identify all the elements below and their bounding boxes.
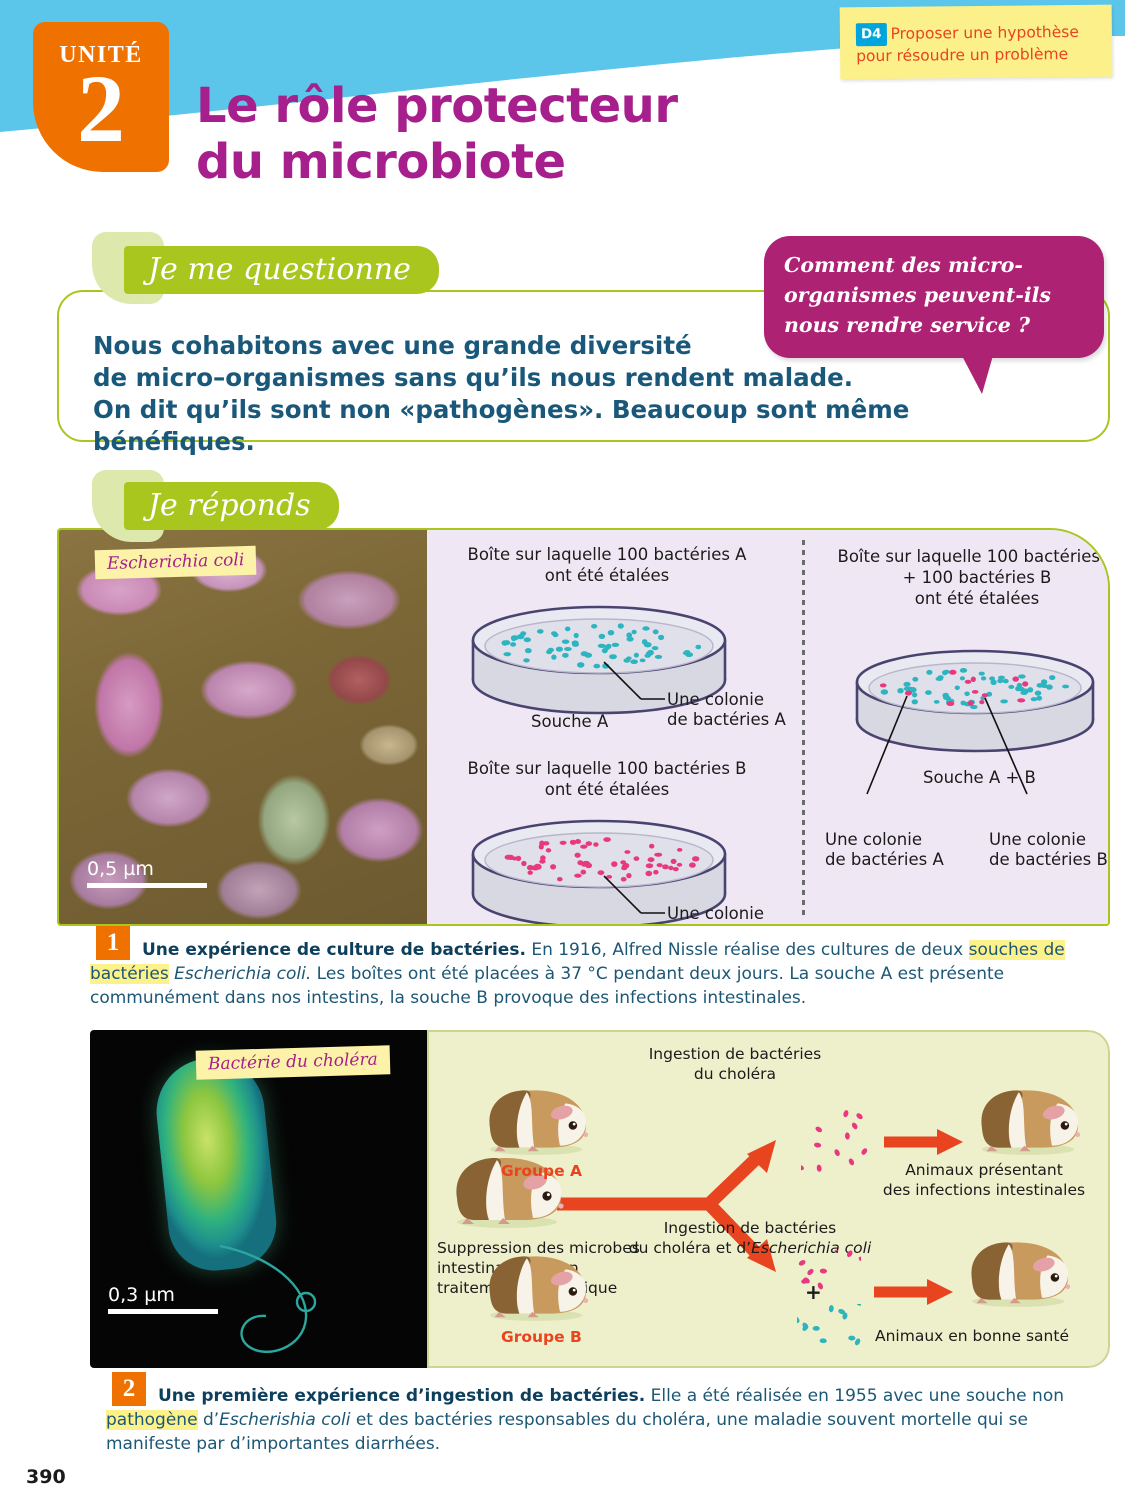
group-b-result-text: Animaux en bonne santé bbox=[875, 1326, 1105, 1346]
page-number: 390 bbox=[26, 1466, 66, 1488]
caption-1: Une expérience de culture de bactéries. … bbox=[90, 938, 1090, 1010]
panel-ab-colony-a-line1: Une colonie bbox=[825, 830, 944, 850]
scale-bar-ecoli: 0,5 µm bbox=[87, 858, 207, 888]
panel-b-colony-line1: Une colonie bbox=[667, 904, 786, 924]
unit-badge: UNITÉ 2 bbox=[33, 22, 169, 172]
plus-sign: + bbox=[805, 1282, 822, 1302]
caption-1-bold: Une expérience de culture de bactéries. bbox=[142, 940, 526, 960]
scale-bar-cholera-text: 0,3 µm bbox=[108, 1284, 218, 1306]
caption-2-highlight: pathogène bbox=[106, 1410, 198, 1430]
scale-bar-cholera: 0,3 µm bbox=[108, 1284, 218, 1314]
bubble-line1: Comment des micro- bbox=[784, 250, 1092, 280]
tab-je-reponds[interactable]: Je réponds bbox=[124, 482, 339, 530]
panel-a-colony-line2: de bactéries A bbox=[667, 710, 786, 730]
panel-ab-caption-line1: Boîte sur laquelle 100 bactéries A bbox=[827, 546, 1110, 567]
bubble-line3: nous rendre service ? bbox=[784, 310, 1092, 340]
figure-1: Escherichia coli 0,5 µm Boîte sur laquel… bbox=[57, 528, 1110, 926]
tab-je-me-questionne[interactable]: Je me questionne bbox=[124, 246, 439, 294]
diagram-divider bbox=[802, 540, 805, 918]
scale-bar-cholera-line bbox=[108, 1309, 218, 1314]
panel-b-caption-line1: Boîte sur laquelle 100 bactéries B bbox=[447, 758, 767, 779]
ecoli-micrograph: Escherichia coli 0,5 µm bbox=[59, 530, 427, 924]
group-b-label: Groupe B bbox=[501, 1328, 582, 1346]
caption-1-t1: En 1916, Alfred Nissle réalise des cultu… bbox=[526, 940, 969, 960]
ecoli-photo-label: Escherichia coli bbox=[95, 546, 257, 579]
ingestion-experiment-diagram: Suppression des microbes intestinaux par… bbox=[427, 1030, 1110, 1368]
page-title: Le rôle protecteur du microbiote bbox=[196, 78, 678, 190]
cholera-photo-label: Bactérie du choléra bbox=[196, 1045, 391, 1079]
panel-a-dish-label: Souche A bbox=[531, 712, 608, 732]
group-a-result-line1: Animaux présentant bbox=[859, 1160, 1109, 1180]
group-a-result-text: Animaux présentant des infections intest… bbox=[859, 1160, 1109, 1200]
guinea-pig-group-a bbox=[477, 1080, 595, 1158]
flagellum-icon bbox=[210, 1240, 410, 1368]
caption-2-t1: Elle a été réalisée en 1955 avec une sou… bbox=[645, 1386, 1064, 1406]
panel-b-caption-line2: ont été étalées bbox=[447, 779, 767, 800]
caption-2-italic: Escherishia coli bbox=[219, 1410, 350, 1430]
competency-text1: Proposer une hypothèse bbox=[890, 23, 1078, 43]
panel-a-colony-line1: Une colonie bbox=[667, 690, 786, 710]
caption-2-bold: Une première expérience d’ingestion de b… bbox=[158, 1386, 645, 1406]
caption-2-t2: d’ bbox=[198, 1410, 220, 1430]
caption-2: Une première expérience d’ingestion de b… bbox=[106, 1384, 1096, 1456]
panel-ab-colony-a-line2: de bactéries A bbox=[825, 850, 944, 870]
intro-line3: On dit qu’ils sont non «pathogènes». Bea… bbox=[93, 394, 953, 458]
panel-b-caption: Boîte sur laquelle 100 bactéries B ont é… bbox=[447, 758, 767, 800]
panel-ab-caption-line2: + 100 bactéries B bbox=[827, 567, 1110, 588]
scale-bar-ecoli-text: 0,5 µm bbox=[87, 858, 207, 880]
group-b-ingestion-line1: Ingestion de bactéries bbox=[605, 1218, 895, 1238]
scale-bar-ecoli-line bbox=[87, 883, 207, 888]
question-bubble-tail bbox=[960, 352, 994, 394]
competency-line1: D4Proposer une hypothèse bbox=[856, 21, 1102, 47]
guinea-pig-group-b bbox=[477, 1246, 595, 1324]
page-title-line1: Le rôle protecteur bbox=[196, 78, 678, 134]
group-a-ingestion-text: Ingestion de bactéries du choléra bbox=[605, 1044, 865, 1084]
cholera-micrograph: Bactérie du choléra 0,3 µm bbox=[90, 1030, 427, 1368]
culture-experiment-diagram: Boîte sur laquelle 100 bactéries A ont é… bbox=[427, 530, 1109, 924]
page-title-line2: du microbiote bbox=[196, 134, 678, 190]
bubble-line2: organismes peuvent-ils bbox=[784, 280, 1092, 310]
caption-1-italic: Escherichia coli. bbox=[174, 964, 311, 984]
panel-ab-dish-label: Souche A + B bbox=[923, 768, 1036, 788]
panel-ab-caption: Boîte sur laquelle 100 bactéries A + 100… bbox=[827, 546, 1110, 609]
ecoli-bacteria-dots-b bbox=[797, 1304, 861, 1350]
competency-code-chip: D4 bbox=[856, 23, 887, 46]
guinea-pig-result-b bbox=[959, 1232, 1077, 1310]
panel-b-colony-line2: de bactéries B bbox=[667, 924, 786, 926]
question-bubble-text: Comment des micro- organismes peuvent-il… bbox=[784, 250, 1092, 340]
group-a-result-line2: des infections intestinales bbox=[859, 1180, 1109, 1200]
unit-number: 2 bbox=[33, 65, 169, 153]
competency-line2: pour résoudre un problème bbox=[856, 44, 1102, 68]
figure-2: Bactérie du choléra 0,3 µm bbox=[90, 1030, 1110, 1368]
panel-a-caption-line2: ont été étalées bbox=[447, 565, 767, 586]
guinea-pig-start bbox=[443, 1148, 571, 1230]
panel-a-caption-line1: Boîte sur laquelle 100 bactéries A bbox=[447, 544, 767, 565]
panel-ab-colony-a-label: Une colonie de bactéries A bbox=[825, 830, 944, 870]
guinea-pig-result-a bbox=[969, 1080, 1087, 1158]
panel-ab-caption-line3: ont été étalées bbox=[827, 588, 1110, 609]
panel-a-colony-label: Une colonie de bactéries A bbox=[667, 690, 786, 730]
group-a-ingestion-line2: du choléra bbox=[605, 1064, 865, 1084]
competency-note: D4Proposer une hypothèse pour résoudre u… bbox=[840, 5, 1113, 80]
caption-2-number: 2 bbox=[112, 1372, 146, 1406]
panel-a-caption: Boîte sur laquelle 100 bactéries A ont é… bbox=[447, 544, 767, 586]
group-a-label: Groupe A bbox=[501, 1162, 582, 1180]
panel-ab-colony-b-line1: Une colonie bbox=[989, 830, 1108, 850]
panel-ab-colony-b-line2: de bactéries B bbox=[989, 850, 1108, 870]
intro-line2: de micro–organismes sans qu’ils nous ren… bbox=[93, 362, 953, 394]
panel-b-colony-label: Une colonie de bactéries B bbox=[667, 904, 786, 926]
caption-1-number: 1 bbox=[96, 926, 130, 960]
panel-ab-colony-b-label: Une colonie de bactéries B bbox=[989, 830, 1108, 870]
group-a-ingestion-line1: Ingestion de bactéries bbox=[605, 1044, 865, 1064]
